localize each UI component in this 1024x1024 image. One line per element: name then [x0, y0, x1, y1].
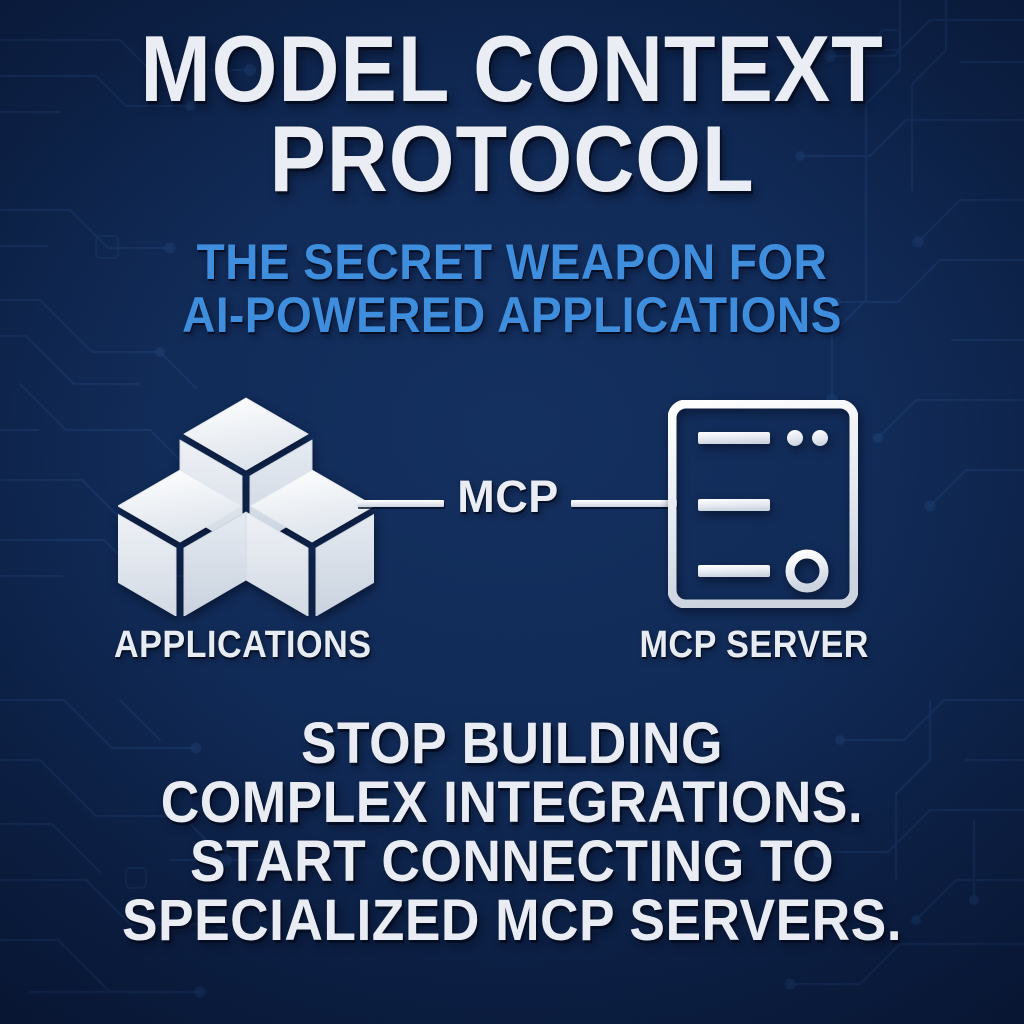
- stacked-cubes-icon: [118, 394, 374, 616]
- mcp-infographic-poster: MODEL CONTEXT PROTOCOL THE SECRET WEAPON…: [0, 0, 1024, 1024]
- connector-line-left: [357, 500, 444, 507]
- title-line-1: MODEL CONTEXT: [51, 24, 973, 114]
- server-slot-bottom: [698, 565, 770, 577]
- architecture-diagram: MCP: [0, 392, 1024, 622]
- caption-applications: APPLICATIONS: [114, 624, 371, 667]
- subtitle-line-2: AI-POWERED APPLICATIONS: [41, 289, 983, 342]
- title-line-2: PROTOCOL: [51, 114, 973, 204]
- tagline-line-2: COMPLEX INTEGRATIONS.: [41, 773, 983, 832]
- tagline-line-3: START CONNECTING TO: [41, 832, 983, 891]
- tagline-line-4: SPECIALIZED MCP SERVERS.: [41, 891, 983, 950]
- page-subtitle: THE SECRET WEAPON FOR AI-POWERED APPLICA…: [0, 236, 1024, 342]
- tagline-line-1: STOP BUILDING: [41, 714, 983, 773]
- page-title: MODEL CONTEXT PROTOCOL: [0, 24, 1024, 204]
- server-power-ring: [790, 554, 824, 588]
- tagline-block: STOP BUILDING COMPLEX INTEGRATIONS. STAR…: [0, 714, 1024, 951]
- subtitle-line-1: THE SECRET WEAPON FOR: [41, 236, 983, 289]
- server-slot-middle: [698, 499, 770, 511]
- caption-mcp-server: MCP SERVER: [640, 624, 869, 667]
- server-led-2: [812, 430, 828, 446]
- server-slot-top: [698, 432, 770, 444]
- server-led-1: [787, 430, 803, 446]
- connector-label-mcp: MCP: [448, 474, 568, 519]
- server-rack-icon: [668, 400, 858, 608]
- connector-line-right: [571, 500, 677, 507]
